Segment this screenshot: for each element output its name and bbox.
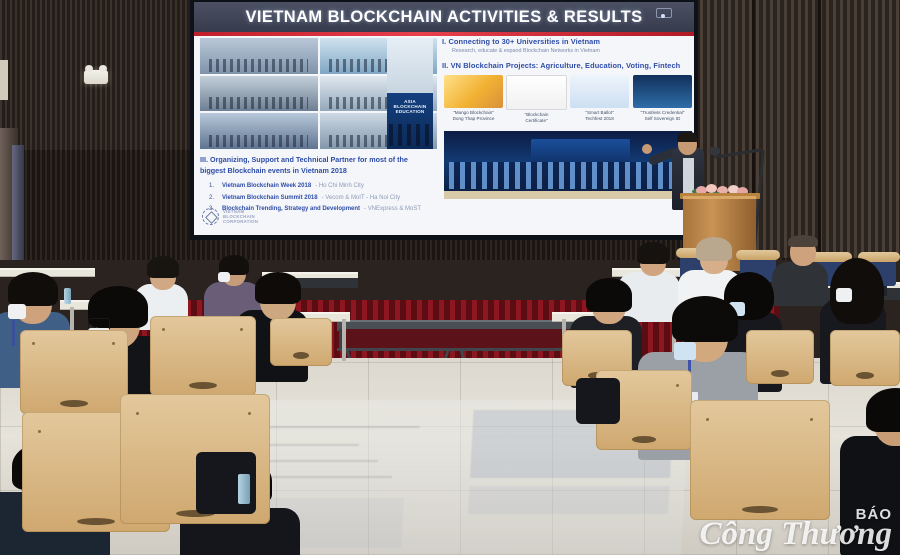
event-stage-photo xyxy=(444,131,692,199)
project-card: "Trustless Credential" Self Sovereign ID xyxy=(633,75,692,127)
blockchain-certificate-image xyxy=(506,75,567,110)
caption-line-2: Dong Thap Province xyxy=(453,116,495,122)
asia-blockchain-education-banner: ASIA BLOCKCHAIN EDUCATION xyxy=(387,93,433,149)
project-card: "Smart Ballot" Techfest 2018 xyxy=(570,75,629,127)
auditorium-chair[interactable] xyxy=(270,318,332,366)
collage-photo xyxy=(200,38,318,74)
list-item: 2. Vietnam Blockchain Summit 2018 - Veco… xyxy=(200,193,436,205)
list-item-detail: - VNExpress & MoST xyxy=(364,204,421,216)
event-stage-floor xyxy=(444,191,692,199)
banner-label: ASIA BLOCKCHAIN EDUCATION xyxy=(389,99,431,114)
slide-title: VIETNAM BLOCKCHAIN ACTIVITIES & RESULTS xyxy=(194,2,694,32)
smart-ballot-image xyxy=(570,75,629,108)
watermark: BÁO Công Thương xyxy=(700,507,892,551)
slide-title-bar: VIETNAM BLOCKCHAIN ACTIVITIES & RESULTS xyxy=(194,2,694,32)
vbc-logo-icon xyxy=(202,208,219,225)
vbc-logo-text: VIETNAM BLOCKCHAIN CORPORATION xyxy=(223,209,258,224)
section-two-heading: II. VN Blockchain Projects: Agriculture,… xyxy=(442,60,692,71)
speaker-hand xyxy=(642,144,652,154)
project-card: "Mango Blockchain" Dong Thap Province xyxy=(444,75,503,127)
section-one-subtext: Research, educate & expand Blockchain Ne… xyxy=(452,48,692,54)
caption-line-2: Certificate" xyxy=(525,118,549,124)
mango-blockchain-image xyxy=(444,75,503,108)
vietnam-blockchain-corporation-logo: VIETNAM BLOCKCHAIN CORPORATION xyxy=(202,208,258,225)
caption-line-2: Self Sovereign ID xyxy=(641,116,685,122)
watermark-bottom-text: Công Thương xyxy=(700,518,892,551)
section-one-heading: I. Connecting to 30+ Universities in Vie… xyxy=(442,36,692,47)
slide-body: ASIA BLOCKCHAIN EDUCATION I. Connecting … xyxy=(194,36,694,235)
caption-line-2: Techfest 2018 xyxy=(585,116,614,122)
left-blue-pillar xyxy=(12,145,24,260)
list-item: 1. Vietnam Blockchain Week 2018 - Ho Chi… xyxy=(200,181,436,193)
vbc-logo-line-3: CORPORATION xyxy=(223,219,258,224)
list-item-detail: - Ho Chi Minh City xyxy=(315,181,364,193)
project-card: "Blockchain Certificate" xyxy=(507,75,566,127)
project-card-row: "Mango Blockchain" Dong Thap Province "B… xyxy=(444,75,692,127)
project-card-caption: "Blockchain Certificate" xyxy=(525,112,549,124)
collage-photo-signing-ceremony: ASIA BLOCKCHAIN EDUCATION xyxy=(387,38,433,149)
section-three-heading-line-1: III. Organizing, Support and Technical P… xyxy=(200,154,436,165)
list-item-number: 2. xyxy=(200,193,214,205)
project-card-caption: "Smart Ballot" Techfest 2018 xyxy=(585,110,614,122)
water-bottle xyxy=(64,288,71,304)
project-card-caption: "Mango Blockchain" Dong Thap Province xyxy=(453,110,495,122)
list-item-title: Vietnam Blockchain Week 2018 xyxy=(222,181,311,193)
slide-section-two: II. VN Blockchain Projects: Agriculture,… xyxy=(442,60,692,71)
collage-photo xyxy=(200,76,318,112)
slide-section-three: III. Organizing, Support and Technical P… xyxy=(200,154,436,216)
auditorium-chair[interactable] xyxy=(746,330,814,384)
speaker-hair xyxy=(677,132,698,142)
stacked-chair xyxy=(736,250,780,260)
trustless-credential-image xyxy=(633,75,692,108)
backpack xyxy=(576,378,620,424)
auditorium-chair[interactable] xyxy=(830,330,900,386)
list-item-detail: - Vecom & MoIT - Ha Noi City xyxy=(322,193,401,205)
slide-section-one: I. Connecting to 30+ Universities in Vie… xyxy=(442,36,692,54)
auditorium-chair[interactable] xyxy=(20,330,128,414)
water-bottle xyxy=(238,474,250,504)
section-three-heading-line-2: biggest Blockchain events in Vietnam 201… xyxy=(200,165,436,176)
slide-corner-icon xyxy=(656,8,672,18)
wall-notice-frame xyxy=(0,60,8,100)
microphone-icon xyxy=(709,147,720,155)
event-people-row xyxy=(449,162,687,189)
stage-bench xyxy=(337,320,579,362)
list-item-number: 1. xyxy=(200,181,214,193)
project-card-caption: "Trustless Credential" Self Sovereign ID xyxy=(641,110,685,122)
auditorium-chair[interactable] xyxy=(150,316,256,396)
emergency-light-icon xyxy=(84,70,108,84)
event-led-screen xyxy=(531,139,630,165)
list-item-title: Vietnam Blockchain Summit 2018 xyxy=(222,193,318,205)
collage-photo xyxy=(200,113,318,149)
screenshot-root: VIETNAM BLOCKCHAIN ACTIVITIES & RESULTS … xyxy=(0,0,900,555)
auditorium-chair[interactable] xyxy=(690,400,830,520)
presentation-slide: VIETNAM BLOCKCHAIN ACTIVITIES & RESULTS … xyxy=(194,2,694,235)
